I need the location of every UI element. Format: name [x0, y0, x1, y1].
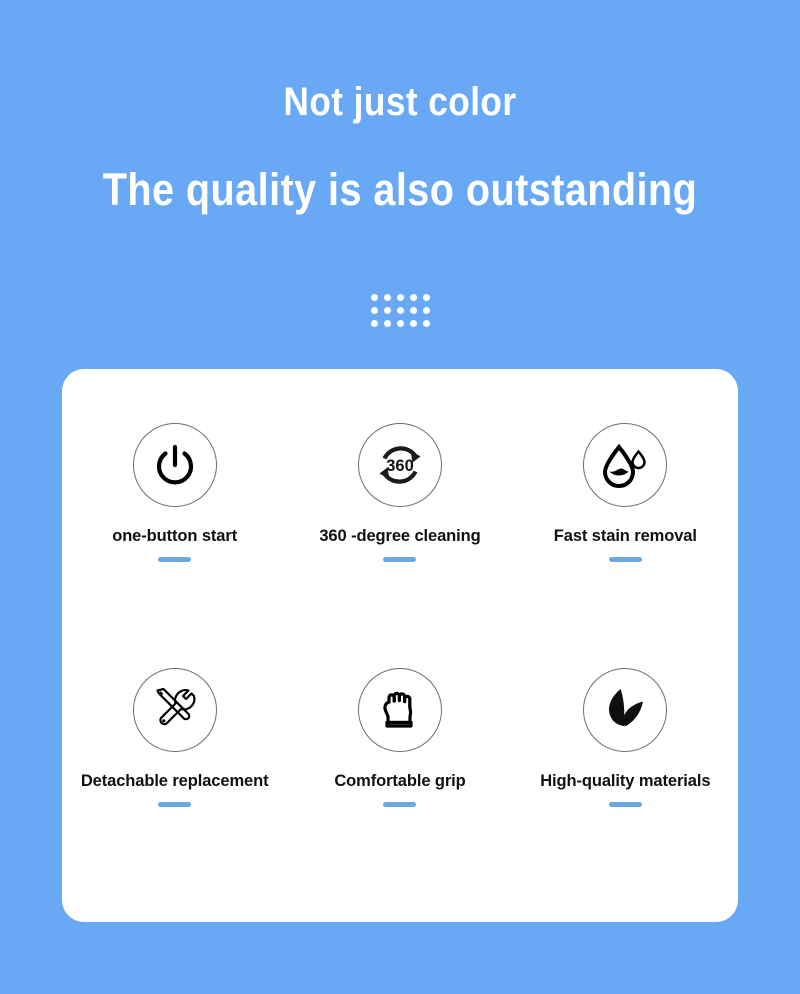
dot: [371, 320, 378, 327]
feature-underline: [383, 802, 416, 807]
dot: [397, 320, 404, 327]
dot: [410, 307, 417, 314]
360-rotation-icon: 360: [358, 423, 442, 507]
feature-label: Fast stain removal: [554, 527, 697, 546]
dot: [423, 307, 430, 314]
dot: [410, 294, 417, 301]
dot: [397, 294, 404, 301]
dot: [384, 320, 391, 327]
page-title-line2: The quality is also outstanding: [48, 167, 752, 212]
feature-item-one-button-start[interactable]: one-button start: [62, 405, 287, 650]
feature-grid: one-button start 360 360 -degree cleanin…: [62, 369, 738, 922]
feature-item-fast-stain-removal[interactable]: Fast stain removal: [513, 405, 738, 650]
feature-item-comfortable-grip[interactable]: Comfortable grip: [287, 650, 512, 895]
feature-underline: [609, 557, 642, 562]
power-button-icon: [133, 423, 217, 507]
feature-underline: [158, 557, 191, 562]
feature-item-detachable-replacement[interactable]: Detachable replacement: [62, 650, 287, 895]
dot: [371, 307, 378, 314]
dot: [423, 294, 430, 301]
page-title-line1: Not just color: [48, 82, 752, 122]
dot-grid-decoration: [0, 294, 800, 327]
feature-underline: [158, 802, 191, 807]
feature-label: 360 -degree cleaning: [319, 527, 480, 546]
dot: [410, 320, 417, 327]
feature-label: one-button start: [112, 527, 237, 546]
dot: [384, 294, 391, 301]
feature-underline: [609, 802, 642, 807]
feature-card: one-button start 360 360 -degree cleanin…: [62, 369, 738, 922]
feature-label: Detachable replacement: [81, 772, 269, 791]
dot: [397, 307, 404, 314]
water-drop-icon: [583, 423, 667, 507]
feature-label: High-quality materials: [540, 772, 710, 791]
dot: [423, 320, 430, 327]
360-icon-text: 360: [386, 457, 414, 475]
leaves-icon: [583, 668, 667, 752]
feature-item-high-quality-materials[interactable]: High-quality materials: [513, 650, 738, 895]
feature-underline: [383, 557, 416, 562]
dot: [371, 294, 378, 301]
dot: [384, 307, 391, 314]
dot-grid-inner: [371, 294, 430, 327]
grip-hand-icon: [358, 668, 442, 752]
headings-block: Not just color The quality is also outst…: [0, 0, 800, 212]
feature-item-360-degree-cleaning[interactable]: 360 360 -degree cleaning: [287, 405, 512, 650]
feature-label: Comfortable grip: [334, 772, 465, 791]
wrench-screwdriver-icon: [133, 668, 217, 752]
